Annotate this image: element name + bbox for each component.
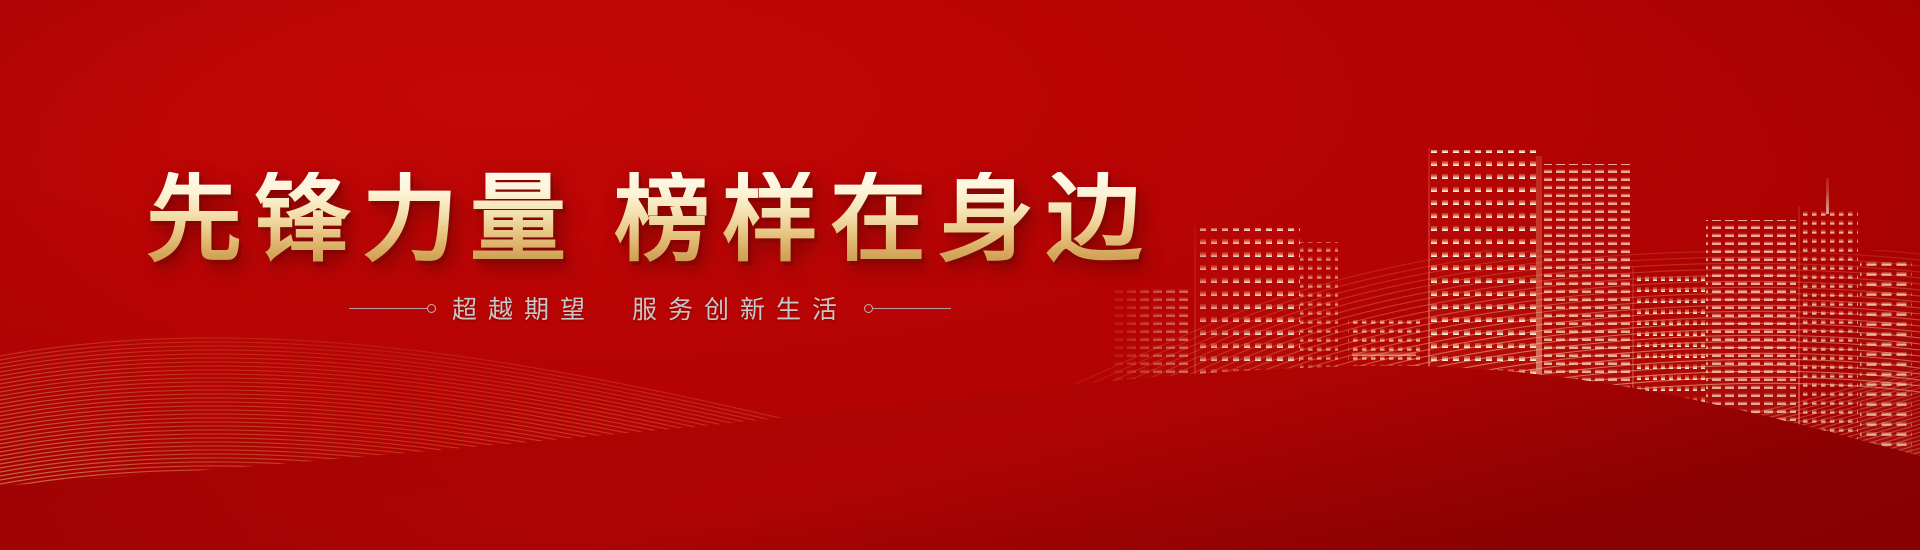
left-rule-icon [349,308,427,309]
subtitle-row: 超越期望 服务创新生活 [0,290,1300,326]
foreground-wave [0,360,1920,550]
right-rule-icon [873,308,951,309]
left-decoration [349,304,436,313]
page-title: 先锋力量 榜样在身边 [0,172,1300,268]
right-dot-icon [864,304,873,313]
right-decoration [864,304,951,313]
headline-block: 先锋力量 榜样在身边 超越期望 服务创新生活 [0,172,1300,326]
page-subtitle: 超越期望 服务创新生活 [452,290,848,326]
promo-banner: 先锋力量 榜样在身边 超越期望 服务创新生活 [0,0,1920,550]
left-dot-icon [427,304,436,313]
